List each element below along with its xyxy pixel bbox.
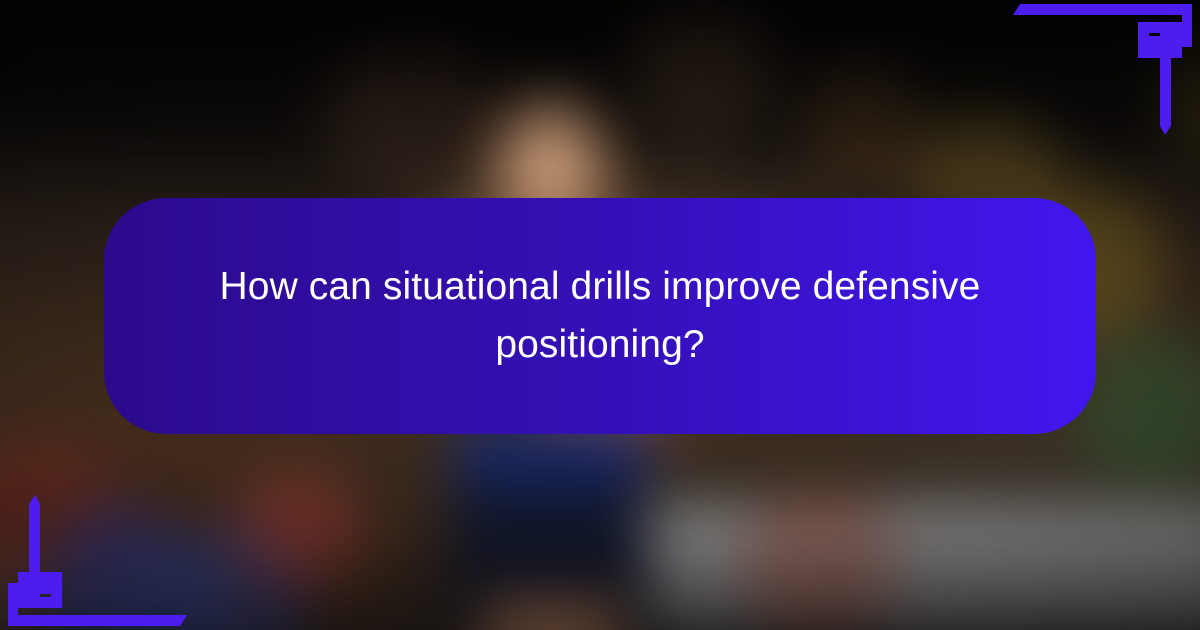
question-text: How can situational drills improve defen…: [200, 258, 1000, 374]
corner-bracket-ornament-top-right: [1010, 0, 1200, 135]
og-card-canvas: How can situational drills improve defen…: [0, 0, 1200, 630]
question-card: How can situational drills improve defen…: [104, 198, 1096, 434]
corner-bracket-ornament-bottom-left: [0, 495, 190, 630]
